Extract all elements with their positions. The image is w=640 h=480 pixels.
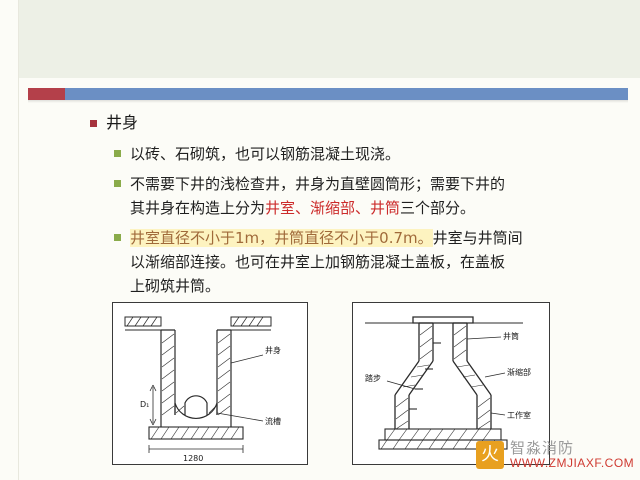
- bullet-text: 不需要下井的浅检查井，井身为直壁圆筒形；需要下井的 其井身在构造上分为井室、渐缩…: [130, 172, 505, 220]
- figure-label-flow-channel: 流槽: [265, 416, 281, 426]
- figure-label-work-chamber: 工作室: [507, 410, 531, 420]
- slide-left-rail: [0, 0, 19, 480]
- figure-label-dimension: 1280: [183, 454, 203, 463]
- heading-text: 井身: [106, 112, 138, 134]
- figure-label-depth: D₁: [140, 400, 149, 409]
- bullet-square-icon: [114, 180, 121, 187]
- bullet-segment: 三个部分。: [400, 199, 475, 217]
- bullet-square-icon: [90, 120, 97, 127]
- bullet-segment: 井室与井筒间: [433, 229, 523, 247]
- slide-content: 井身 以砖、石砌筑，也可以钢筋混凝土现浇。 不需要下井的浅检查井，井身为直壁圆筒…: [90, 112, 620, 300]
- slide-top-band: [0, 0, 640, 78]
- bullet-segment-emphasis: 井室、渐缩部、井筒: [265, 199, 400, 217]
- figure-label-shaft: 井筒: [503, 331, 519, 341]
- flame-icon: 火: [476, 441, 504, 469]
- logo-url-text: WWW.ZMJIAXF.COM: [510, 456, 634, 470]
- title-divider-bar: [28, 88, 628, 100]
- bullet-heading: 井身: [90, 112, 620, 134]
- divider-shadow: [28, 100, 628, 103]
- bullet-square-icon: [114, 234, 121, 241]
- watermark-logo: 火 智淼消防 WWW.ZMJIAXF.COM: [476, 437, 626, 473]
- bullet-segment: 不需要下井的浅检查井，井身为直壁圆筒形；需要下井的: [130, 175, 505, 193]
- bullet-text: 井室直径不小于1m，井筒直径不小于0.7m。井室与井筒间 以渐缩部连接。也可在井…: [130, 226, 523, 298]
- divider-accent-red: [28, 88, 65, 100]
- figure-manhole-section-left: 井身 流槽 1280 D₁: [112, 302, 308, 465]
- figure-label-taper: 渐缩部: [507, 367, 531, 377]
- bullet-segment-highlight: 井室直径不小于1m，井筒直径不小于0.7m。: [130, 229, 433, 247]
- bullet-text: 以砖、石砌筑，也可以钢筋混凝土现浇。: [130, 142, 400, 166]
- bullet-segment: 上砌筑井筒。: [130, 277, 220, 295]
- bullet-item-3: 井室直径不小于1m，井筒直径不小于0.7m。井室与井筒间 以渐缩部连接。也可在井…: [114, 226, 620, 298]
- bullet-segment: 以渐缩部连接。也可在井室上加钢筋混凝土盖板，在盖板: [130, 253, 505, 271]
- divider-accent-blue: [65, 88, 628, 100]
- bullet-item-2: 不需要下井的浅检查井，井身为直壁圆筒形；需要下井的 其井身在构造上分为井室、渐缩…: [114, 172, 620, 220]
- logo-brand-text: 智淼消防: [510, 437, 574, 458]
- bullet-item-1: 以砖、石砌筑，也可以钢筋混凝土现浇。: [114, 142, 620, 166]
- bullet-square-icon: [114, 150, 121, 157]
- figure-label-step: 踏步: [365, 373, 381, 383]
- figure-label-well-body: 井身: [265, 345, 281, 355]
- bullet-segment: 其井身在构造上分为: [130, 199, 265, 217]
- slide-canvas: 井身 以砖、石砌筑，也可以钢筋混凝土现浇。 不需要下井的浅检查井，井身为直壁圆筒…: [0, 0, 640, 480]
